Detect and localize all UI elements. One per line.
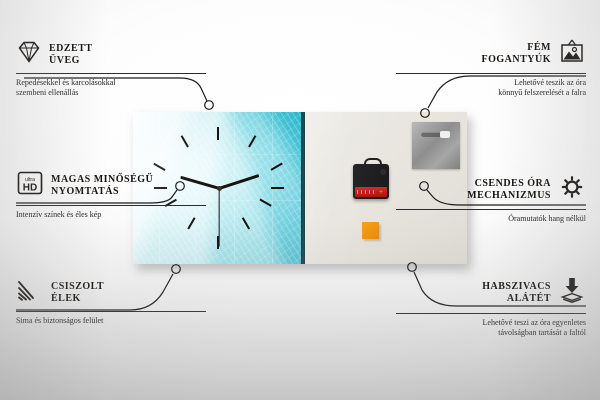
infographic-canvas: + bbox=[0, 0, 600, 400]
feature-hd-print[interactable]: ultra HD MAGAS MINŐSÉGŰ NYOMTATÁS Intenz… bbox=[16, 170, 206, 220]
feature-polished-edges[interactable]: CSISZOLT ÉLEK Sima és biztonságos felüle… bbox=[16, 278, 206, 326]
gear-icon bbox=[558, 174, 586, 205]
divider bbox=[396, 209, 586, 210]
hour-marker bbox=[271, 187, 284, 189]
feature-title-line1: CSENDES ÓRA bbox=[467, 178, 551, 190]
ultra-hd-bottom-text: HD bbox=[23, 182, 37, 193]
feature-description-line2: könnyű felszerelését a falra bbox=[396, 88, 586, 98]
feature-title-line2: NYOMTATÁS bbox=[51, 186, 153, 198]
polished-edges-icon bbox=[16, 278, 44, 307]
battery: + bbox=[355, 187, 387, 197]
diamond-icon bbox=[16, 40, 42, 69]
feature-title-line2: ÜVEG bbox=[49, 55, 93, 67]
feature-title-line2: FOGANTYÚK bbox=[482, 54, 552, 66]
feature-title-line1: FÉM bbox=[482, 42, 552, 54]
foam-spacer-pad bbox=[362, 222, 379, 239]
feature-metal-hangers[interactable]: FÉM FOGANTYÚK Lehetővé teszik az óra kön… bbox=[396, 38, 586, 98]
second-hand bbox=[218, 189, 219, 247]
feature-title-line1: HABSZIVACS bbox=[482, 281, 551, 293]
feature-title-line2: ALÁTÉT bbox=[482, 293, 551, 305]
feature-silent-mechanism[interactable]: CSENDES ÓRA MECHANIZMUS Óramutatók hang … bbox=[396, 174, 586, 224]
hour-marker bbox=[217, 127, 219, 140]
divider bbox=[16, 73, 206, 74]
quartz-clock-mechanism: + bbox=[353, 164, 389, 199]
feature-title-line1: MAGAS MINŐSÉGŰ bbox=[51, 174, 153, 186]
feature-description-line2: távolságban tartását a faltól bbox=[396, 328, 586, 338]
feature-tempered-glass[interactable]: EDZETT ÜVEG Repedésekkel és karcolásokka… bbox=[16, 40, 206, 98]
feature-description-line2: szembeni ellenállás bbox=[16, 88, 206, 98]
feature-title-line1: CSISZOLT bbox=[51, 281, 104, 293]
divider bbox=[396, 313, 586, 314]
feature-description-line1: Repedésekkel és karcolásokkal bbox=[16, 78, 206, 88]
feature-description-line1: Lehetővé teszik az óra bbox=[396, 78, 586, 88]
feature-description-line1: Intenzív színek és éles kép bbox=[16, 210, 206, 220]
feature-description-line1: Óramutatók hang nélkül bbox=[396, 214, 586, 224]
feature-title-line2: ÉLEK bbox=[51, 293, 104, 305]
picture-hanger-icon bbox=[558, 38, 586, 69]
clock-center-cap bbox=[217, 186, 222, 191]
feature-description-line1: Lehetővé teszi az óra egyenletes bbox=[396, 318, 586, 328]
feature-foam-pad[interactable]: HABSZIVACS ALÁTÉT Lehetővé teszi az óra … bbox=[396, 276, 586, 338]
ultra-hd-badge-icon: ultra HD bbox=[16, 170, 44, 201]
feature-description-line1: Sima és biztonságos felület bbox=[16, 316, 206, 326]
divider bbox=[16, 311, 206, 312]
feature-title-line1: EDZETT bbox=[49, 43, 93, 55]
metal-hanger-bracket bbox=[412, 122, 460, 169]
hanger-loop-icon bbox=[364, 158, 382, 169]
divider bbox=[396, 73, 586, 74]
divider bbox=[16, 205, 206, 206]
feature-title-line2: MECHANIZMUS bbox=[467, 190, 551, 202]
foam-pad-icon bbox=[558, 276, 586, 309]
